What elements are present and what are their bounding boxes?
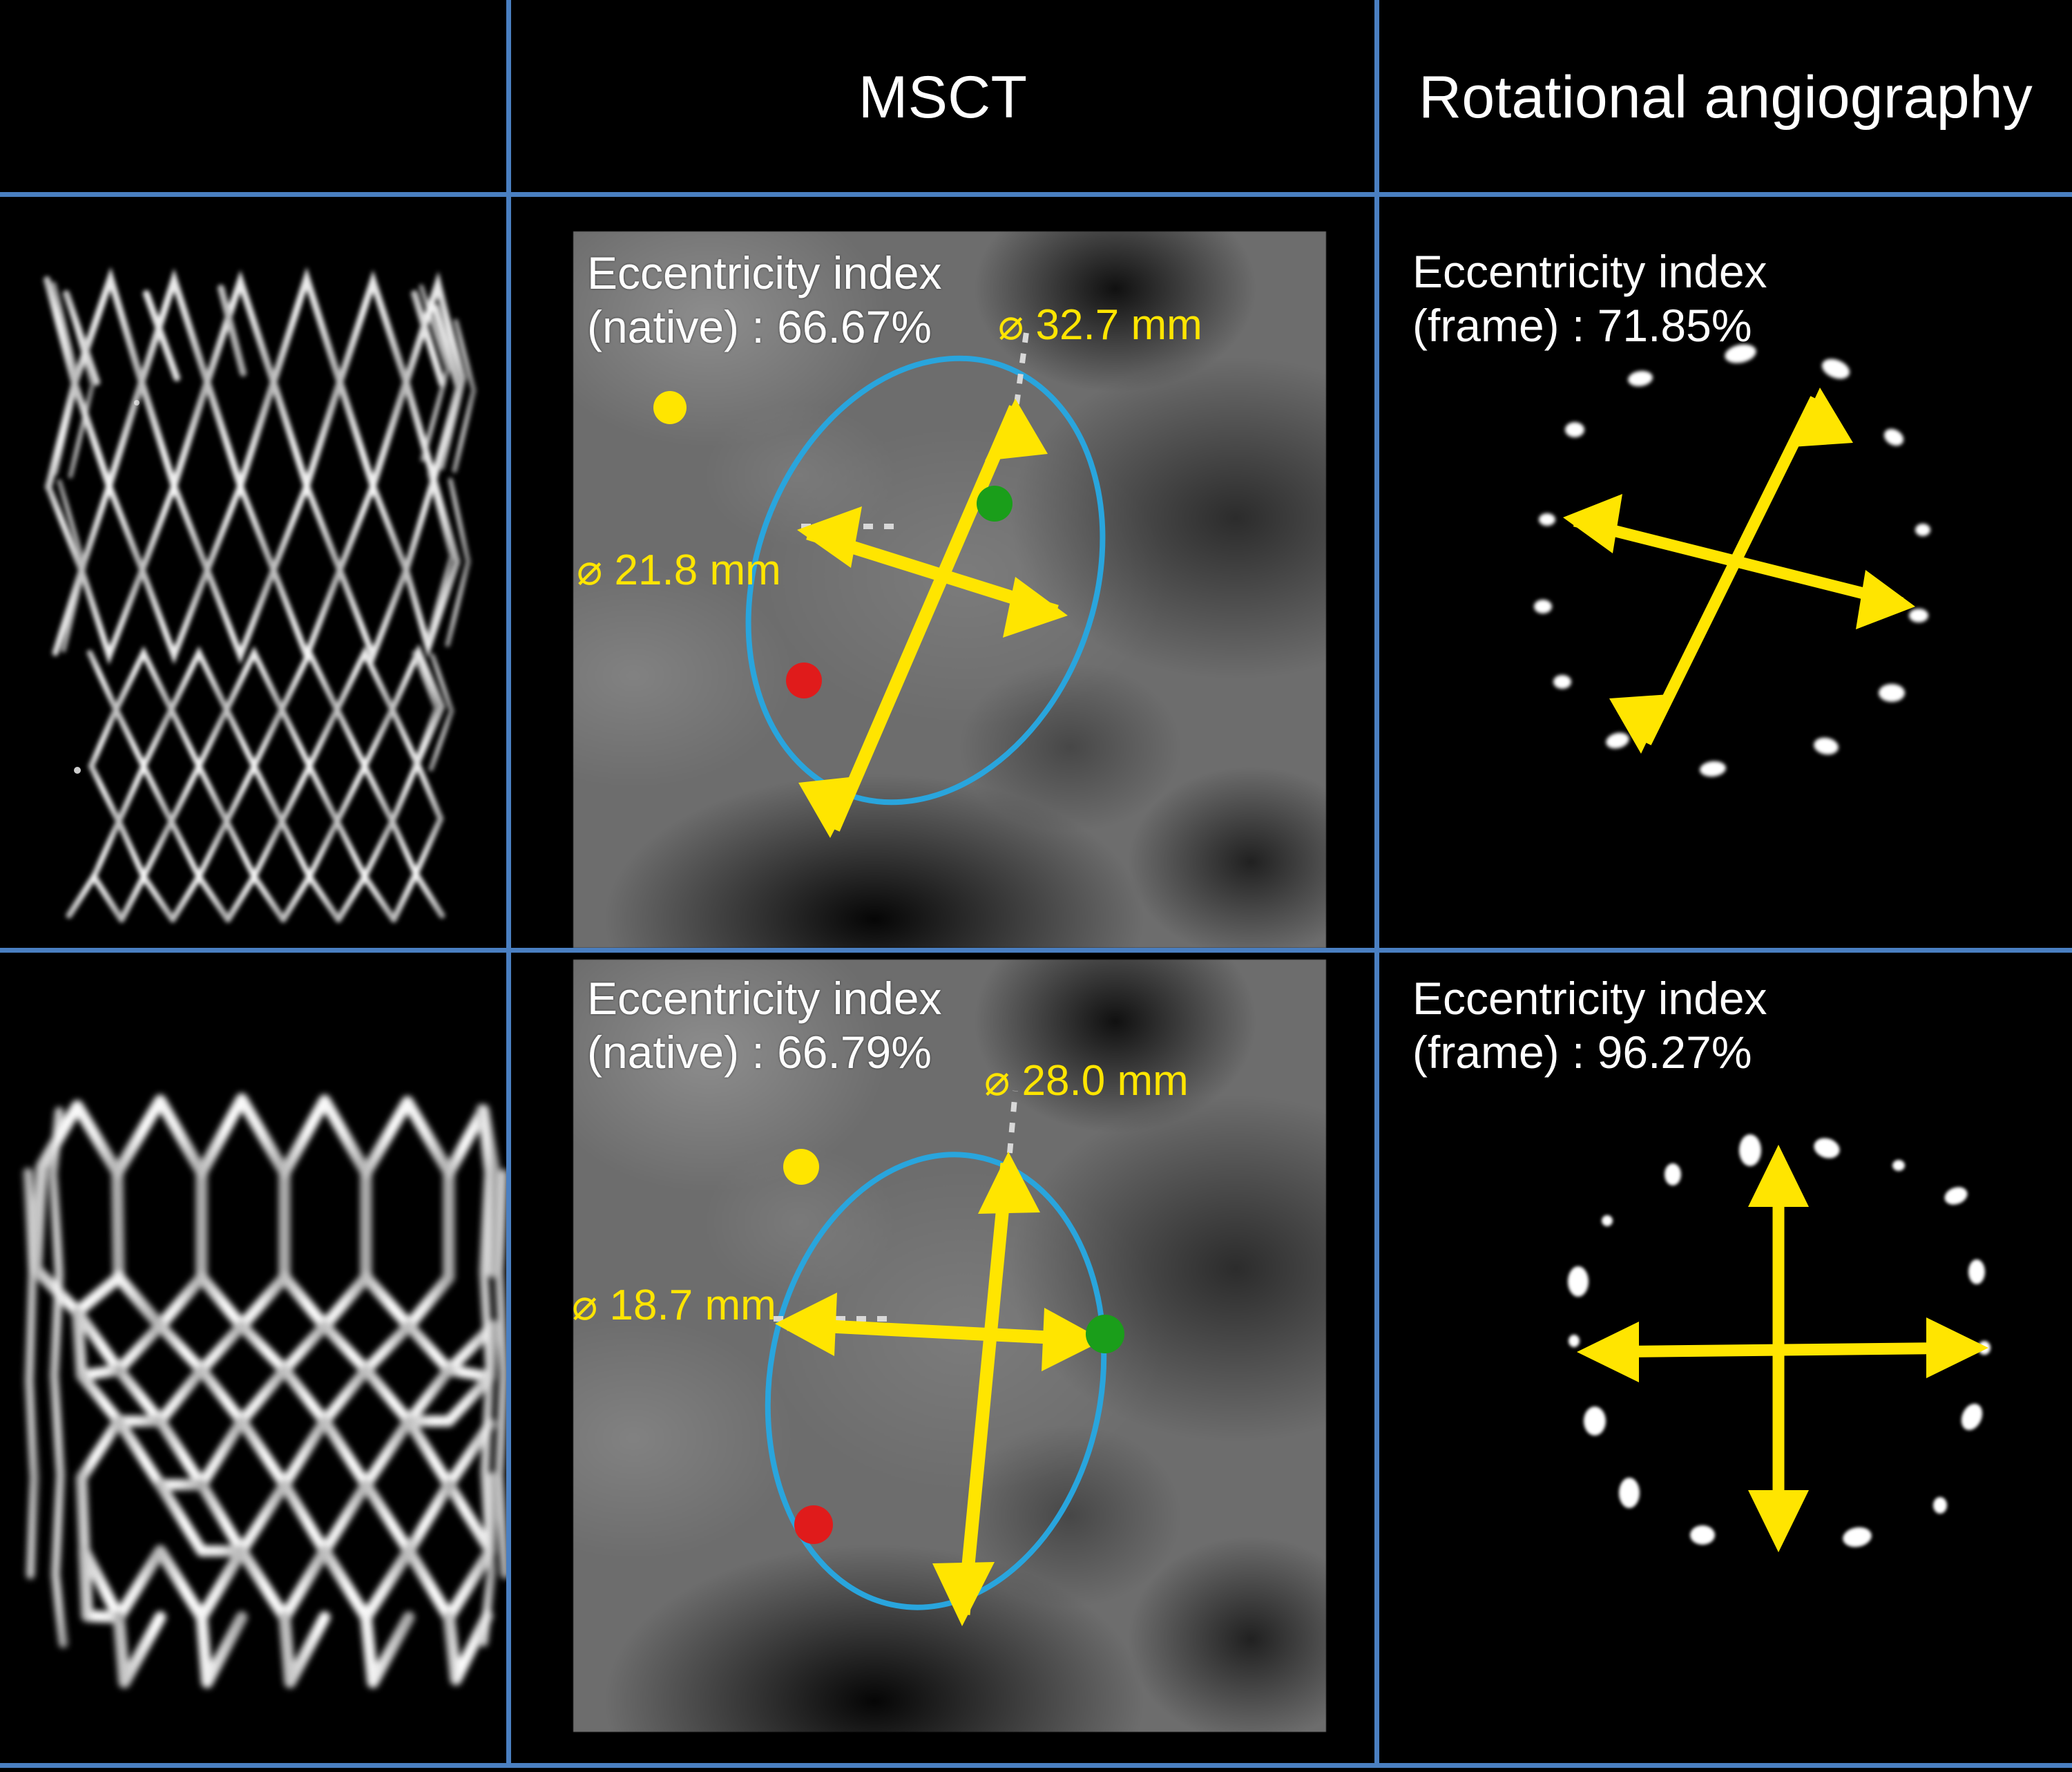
self-expanding-stent-frame-icon [0, 197, 506, 948]
grid-line-bottom [0, 1763, 2072, 1768]
non-coronary-cusp-marker-row1 [786, 663, 822, 698]
left-coronary-cusp-marker-row1 [653, 391, 687, 424]
minor-axis-arrow-row1 [797, 506, 1068, 638]
cell-row1-angio: Eccentricity index (frame) : 71.85% [1379, 197, 2072, 948]
header-cell-blank [0, 0, 506, 194]
minor-diameter-label-row2: ⌀ 18.7 mm [572, 1284, 776, 1327]
eccentricity-index-label-angio-row2: Eccentricity index (frame) : 96.27% [1412, 972, 1854, 1080]
right-coronary-cusp-marker-row2 [1086, 1315, 1124, 1353]
header-label-rotational-angiography: Rotational angiography [1419, 68, 2033, 127]
header-cell-msct: MSCT [511, 0, 1374, 194]
balloon-expandable-stent-frame-icon [0, 953, 506, 1763]
grid-line-col1-divider [506, 0, 511, 1768]
cell-row1-msct: Eccentricity index (native) : 66.67% ⌀ 3… [511, 197, 1374, 948]
annulus-ellipse-row2 [733, 1127, 1138, 1634]
cell-row2-msct: Eccentricity index (native) : 66.79% ⌀ 2… [511, 953, 1374, 1763]
header-cell-rotational-angiography: Rotational angiography [1379, 0, 2072, 194]
grid-line-row-divider [0, 948, 2072, 953]
major-diameter-label-row2: ⌀ 28.0 mm [984, 1060, 1189, 1103]
eccentricity-index-label-angio-row1: Eccentricity index (frame) : 71.85% [1412, 245, 1854, 353]
major-diameter-label-row1: ⌀ 32.7 mm [998, 304, 1202, 347]
major-axis-arrow-row2 [932, 1152, 1040, 1626]
eccentricity-index-label-msct-row2: Eccentricity index (native) : 66.79% [587, 972, 1001, 1080]
left-coronary-cusp-marker-row2 [783, 1149, 819, 1185]
major-axis-arrow-angio-row1 [1609, 388, 1853, 754]
cell-row2-angio: Eccentricity index (frame) : 96.27% [1379, 953, 2072, 1763]
header-label-msct: MSCT [858, 68, 1027, 127]
grid-line-col2-divider [1374, 0, 1379, 1768]
minor-axis-arrow-row2 [775, 1293, 1104, 1371]
non-coronary-cusp-marker-row2 [794, 1505, 833, 1544]
cell-row2-stent [0, 953, 506, 1763]
eccentricity-index-label-msct-row1: Eccentricity index (native) : 66.67% [587, 247, 1001, 354]
right-coronary-cusp-marker-row1 [977, 486, 1013, 522]
figure-root: MSCT Rotational angiography [0, 0, 2072, 1772]
cell-row1-stent [0, 197, 506, 948]
minor-axis-arrow-angio-row1 [1563, 494, 1915, 629]
minor-diameter-label-row1: ⌀ 21.8 mm [577, 549, 781, 592]
